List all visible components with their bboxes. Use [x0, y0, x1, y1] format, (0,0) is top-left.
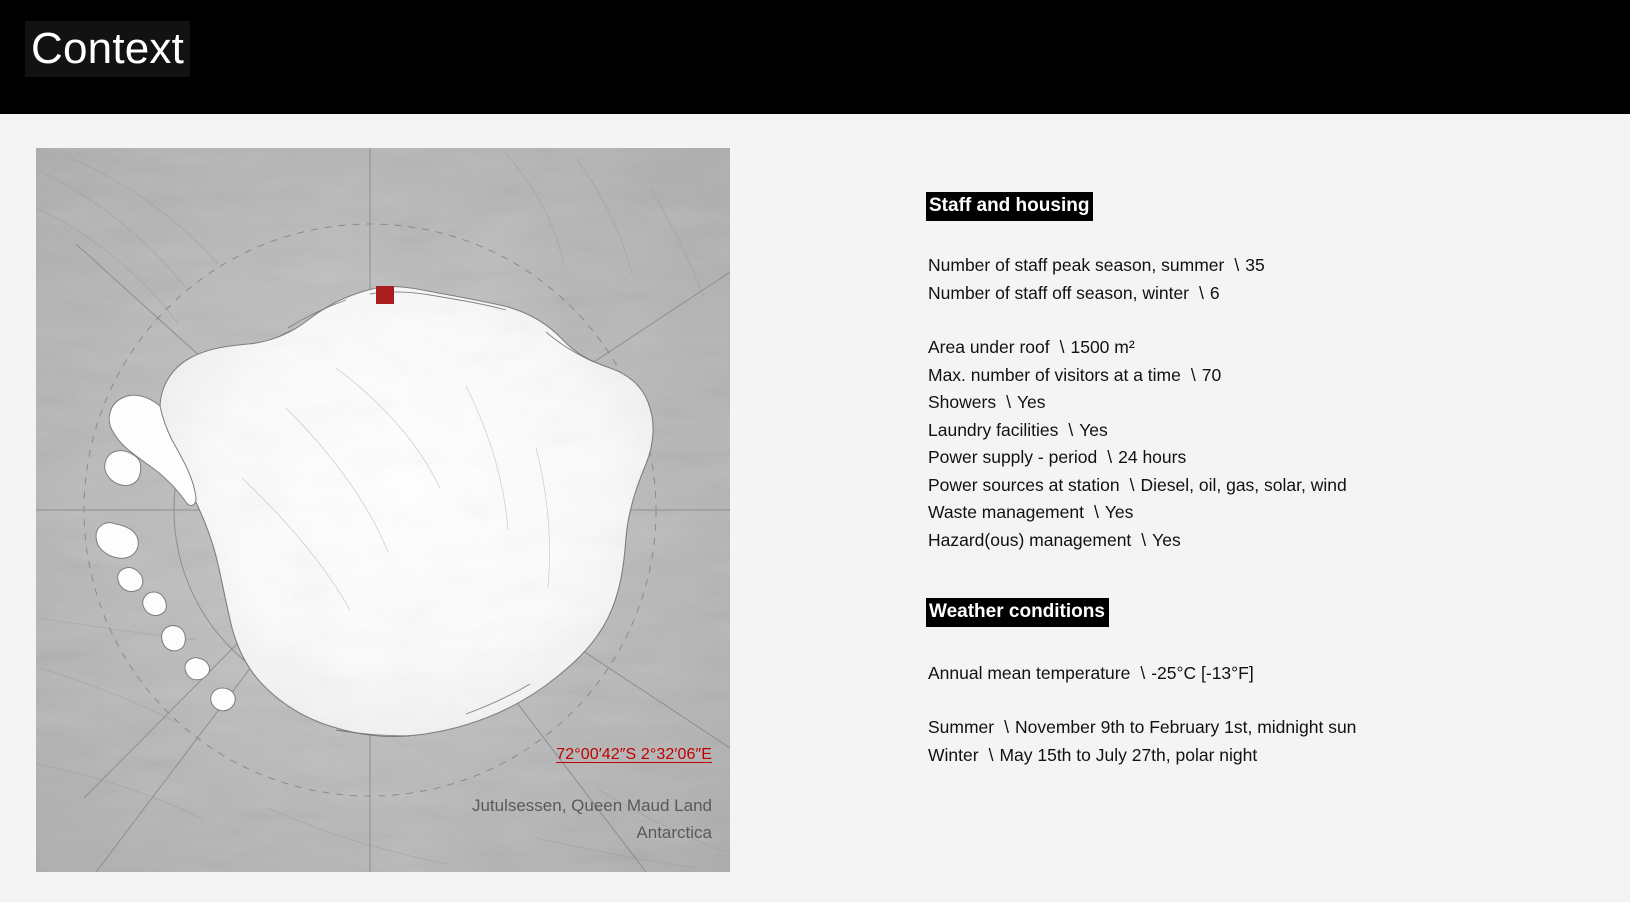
- fact-value: 24 hours: [1118, 447, 1186, 467]
- antarctica-map-panel: 72°00′42″S 2°32′06″E Jutulsessen, Queen …: [36, 148, 730, 872]
- fact-label: Number of staff off season, winter: [928, 283, 1189, 303]
- fact-row: Power supply - period\24 hours: [928, 444, 1347, 472]
- fact-row: Number of staff peak season, summer\35: [928, 252, 1265, 280]
- map-place-line-2: Antarctica: [112, 819, 712, 846]
- temperature-fact-list: Annual mean temperature\-25°C [-13°F]: [928, 660, 1254, 688]
- fact-value: Yes: [1105, 502, 1134, 522]
- fact-value: 1500 m²: [1070, 337, 1134, 357]
- fact-label: Annual mean temperature: [928, 663, 1130, 683]
- fact-separator: \: [1189, 283, 1210, 303]
- fact-separator: \: [979, 745, 1000, 765]
- fact-row: Number of staff off season, winter\6: [928, 280, 1265, 308]
- fact-label: Max. number of visitors at a time: [928, 365, 1181, 385]
- station-marker-icon[interactable]: [376, 286, 394, 304]
- fact-label: Showers: [928, 392, 996, 412]
- fact-label: Power sources at station: [928, 475, 1120, 495]
- fact-separator: \: [1181, 365, 1202, 385]
- fact-row: Laundry facilities\Yes: [928, 417, 1347, 445]
- fact-separator: \: [1130, 663, 1151, 683]
- fact-row: Winter\May 15th to July 27th, polar nigh…: [928, 742, 1356, 770]
- fact-label: Hazard(ous) management: [928, 530, 1131, 550]
- fact-separator: \: [1097, 447, 1118, 467]
- fact-separator: \: [994, 717, 1015, 737]
- fact-label: Power supply - period: [928, 447, 1097, 467]
- staff-and-housing-heading: Staff and housing: [926, 192, 1093, 221]
- fact-value: 35: [1245, 255, 1264, 275]
- housing-fact-list: Area under roof\1500 m²Max. number of vi…: [928, 334, 1347, 554]
- fact-label: Number of staff peak season, summer: [928, 255, 1224, 275]
- fact-value: 70: [1202, 365, 1221, 385]
- fact-value: Yes: [1079, 420, 1108, 440]
- fact-separator: \: [1050, 337, 1071, 357]
- fact-value: November 9th to February 1st, midnight s…: [1015, 717, 1356, 737]
- fact-row: Showers\Yes: [928, 389, 1347, 417]
- fact-row: Power sources at station\Diesel, oil, ga…: [928, 472, 1347, 500]
- fact-separator: \: [1131, 530, 1152, 550]
- map-place-line-1: Jutulsessen, Queen Maud Land: [112, 792, 712, 819]
- map-coordinates-label[interactable]: 72°00′42″S 2°32′06″E: [556, 744, 712, 765]
- staff-heading-wrap: Staff and housing: [926, 192, 1093, 221]
- staff-count-fact-list: Number of staff peak season, summer\35Nu…: [928, 252, 1265, 307]
- weather-heading-wrap: Weather conditions: [926, 598, 1109, 627]
- fact-value: Yes: [1017, 392, 1046, 412]
- fact-separator: \: [1084, 502, 1105, 522]
- fact-separator: \: [1058, 420, 1079, 440]
- fact-separator: \: [1120, 475, 1141, 495]
- fact-label: Area under roof: [928, 337, 1050, 357]
- fact-value: Yes: [1152, 530, 1181, 550]
- map-place-label: Jutulsessen, Queen Maud Land Antarctica: [112, 792, 712, 846]
- fact-row: Annual mean temperature\-25°C [-13°F]: [928, 660, 1254, 688]
- fact-label: Laundry facilities: [928, 420, 1058, 440]
- fact-value: Diesel, oil, gas, solar, wind: [1141, 475, 1347, 495]
- fact-label: Summer: [928, 717, 994, 737]
- fact-separator: \: [1224, 255, 1245, 275]
- fact-row: Area under roof\1500 m²: [928, 334, 1347, 362]
- fact-row: Waste management\Yes: [928, 499, 1347, 527]
- fact-row: Max. number of visitors at a time\70: [928, 362, 1347, 390]
- fact-value: 6: [1210, 283, 1220, 303]
- season-fact-list: Summer\November 9th to February 1st, mid…: [928, 714, 1356, 769]
- fact-label: Winter: [928, 745, 979, 765]
- fact-row: Hazard(ous) management\Yes: [928, 527, 1347, 555]
- fact-value: May 15th to July 27th, polar night: [999, 745, 1257, 765]
- weather-conditions-heading: Weather conditions: [926, 598, 1109, 627]
- fact-row: Summer\November 9th to February 1st, mid…: [928, 714, 1356, 742]
- header-bar: Context: [0, 0, 1630, 114]
- fact-value: -25°C [-13°F]: [1151, 663, 1254, 683]
- fact-label: Waste management: [928, 502, 1084, 522]
- page-title: Context: [25, 21, 190, 77]
- fact-separator: \: [996, 392, 1017, 412]
